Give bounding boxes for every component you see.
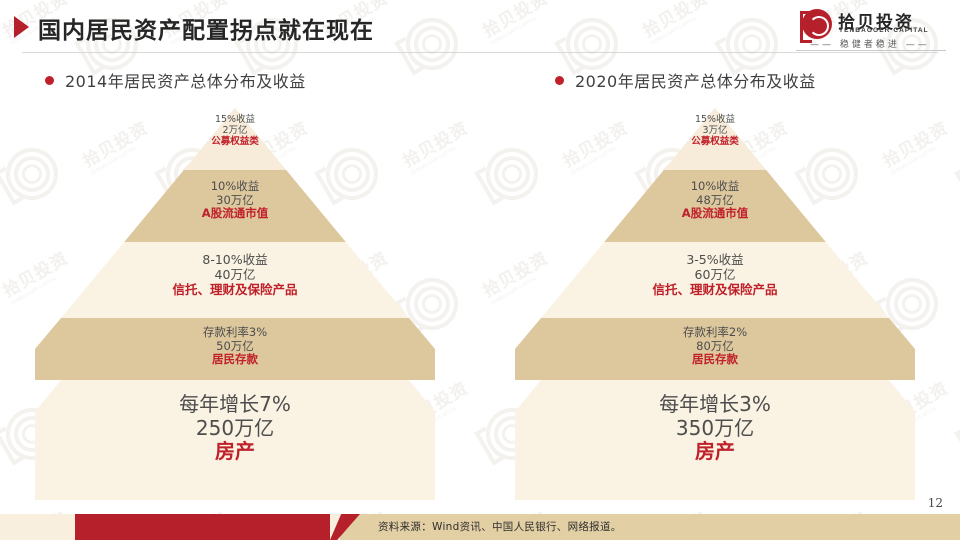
slide-footer: 资料来源：Wind资讯、中国人民银行、网络报道。 (0, 514, 960, 540)
tier-amount: 250万亿 (35, 417, 435, 441)
tier-asset: 信托、理财及保险产品 (515, 283, 915, 298)
section-heading-label: 2014年居民资产总体分布及收益 (65, 68, 306, 92)
tier-yield: 15%收益 (35, 114, 435, 125)
bullet-dot-icon (555, 76, 564, 85)
tier-yield: 8-10%收益 (35, 253, 435, 268)
tier-amount: 40万亿 (35, 268, 435, 283)
tier-yield: 存款利率3% (35, 326, 435, 340)
tier-amount: 30万亿 (35, 194, 435, 208)
pyramid-tier: 15%收益 3万亿 公募权益类 (515, 108, 915, 170)
section-heading-2020: 2020年居民资产总体分布及收益 (555, 68, 816, 92)
logo-name-en: TENBAGGER CAPITAL (839, 27, 929, 34)
tier-text: 每年增长7% 250万亿 房产 (35, 393, 435, 464)
pyramid-tier: 10%收益 30万亿 A股流通市值 (35, 170, 435, 242)
tier-yield: 存款利率2% (515, 326, 915, 340)
tier-asset: A股流通市值 (35, 207, 435, 221)
pyramid-2014: 15%收益 2万亿 公募权益类 10%收益 30万亿 A股流通市值 8-10%收… (35, 108, 435, 500)
tier-text: 3-5%收益 60万亿 信托、理财及保险产品 (515, 253, 915, 297)
tier-amount: 48万亿 (515, 194, 915, 208)
tier-amount: 3万亿 (515, 125, 915, 136)
watermark-logo-icon (956, 398, 960, 469)
watermark-logo-icon (956, 138, 960, 209)
tier-amount: 50万亿 (35, 340, 435, 354)
pyramid-tier: 15%收益 2万亿 公募权益类 (35, 108, 435, 170)
tier-asset: 房产 (515, 440, 915, 464)
footer-red-band (75, 514, 360, 540)
pyramid-tier: 每年增长7% 250万亿 房产 (35, 380, 435, 500)
tier-yield: 3-5%收益 (515, 253, 915, 268)
tier-text: 存款利率2% 80万亿 居民存款 (515, 326, 915, 367)
tier-text: 10%收益 30万亿 A股流通市值 (35, 180, 435, 221)
page-number: 12 (928, 496, 943, 510)
brand-logo: 拾贝投资 TENBAGGER CAPITAL —— 稳健者稳进 —— (796, 6, 946, 50)
tier-asset: A股流通市值 (515, 207, 915, 221)
footer-source-text: 资料来源：Wind资讯、中国人民银行、网络报道。 (378, 519, 622, 534)
pyramid-tier: 存款利率3% 50万亿 居民存款 (35, 318, 435, 380)
tier-text: 每年增长3% 350万亿 房产 (515, 393, 915, 464)
tier-yield: 10%收益 (35, 180, 435, 194)
pyramid-tier: 存款利率2% 80万亿 居民存款 (515, 318, 915, 380)
tier-text: 8-10%收益 40万亿 信托、理财及保险产品 (35, 253, 435, 297)
bullet-dot-icon (45, 76, 54, 85)
tier-asset: 房产 (35, 440, 435, 464)
tier-asset: 公募权益类 (515, 136, 915, 147)
pyramid-tier: 每年增长3% 350万亿 房产 (515, 380, 915, 500)
tier-asset: 居民存款 (515, 353, 915, 367)
section-heading-label: 2020年居民资产总体分布及收益 (575, 68, 816, 92)
pyramid-2020: 15%收益 3万亿 公募权益类 10%收益 48万亿 A股流通市值 3-5%收益… (515, 108, 915, 500)
tier-amount: 60万亿 (515, 268, 915, 283)
tier-asset: 居民存款 (35, 353, 435, 367)
tier-text: 15%收益 3万亿 公募权益类 (515, 114, 915, 148)
tier-amount: 80万亿 (515, 340, 915, 354)
triangle-right-icon (14, 16, 29, 38)
tier-text: 存款利率3% 50万亿 居民存款 (35, 326, 435, 367)
header-divider (22, 52, 938, 53)
tier-amount: 350万亿 (515, 417, 915, 441)
logo-slogan: —— 稳健者稳进 —— (810, 37, 930, 50)
tier-text: 10%收益 48万亿 A股流通市值 (515, 180, 915, 221)
section-heading-2014: 2014年居民资产总体分布及收益 (45, 68, 306, 92)
tier-yield: 10%收益 (515, 180, 915, 194)
tier-yield: 每年增长7% (35, 393, 435, 417)
pyramid-tier: 8-10%收益 40万亿 信托、理财及保险产品 (35, 242, 435, 318)
tier-yield: 15%收益 (515, 114, 915, 125)
pyramid-tier: 3-5%收益 60万亿 信托、理财及保险产品 (515, 242, 915, 318)
page-title: 国内居民资产配置拐点就在现在 (38, 11, 374, 45)
pyramid-tier: 10%收益 48万亿 A股流通市值 (515, 170, 915, 242)
tier-asset: 信托、理财及保险产品 (35, 283, 435, 298)
tier-amount: 2万亿 (35, 125, 435, 136)
tier-text: 15%收益 2万亿 公募权益类 (35, 114, 435, 148)
tier-yield: 每年增长3% (515, 393, 915, 417)
tier-asset: 公募权益类 (35, 136, 435, 147)
